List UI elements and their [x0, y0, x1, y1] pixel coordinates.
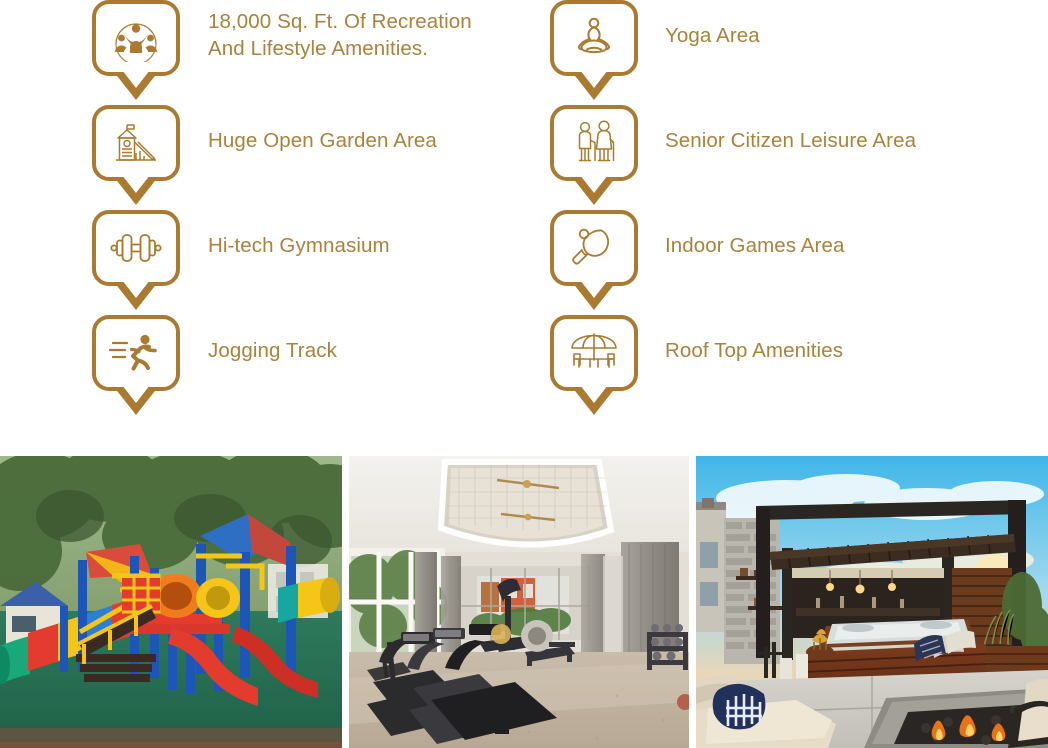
amenities-brochure-page: 18,000 Sq. Ft. Of Recreation And Lifesty…	[0, 0, 1048, 748]
dumbbell-icon	[92, 210, 180, 286]
playground-photo	[0, 456, 342, 748]
amenity-label: Yoga Area	[665, 22, 760, 49]
amenity-label: Indoor Games Area	[665, 232, 844, 259]
playground-slide-icon	[92, 105, 180, 181]
amenity-label: Senior Citizen Leisure Area	[665, 127, 916, 154]
amenity-label: Hi-tech Gymnasium	[208, 232, 390, 259]
amenity-item-indoor-games: Indoor Games Area	[550, 210, 1010, 310]
gallery-divider	[342, 456, 349, 748]
senior-couple-icon	[550, 105, 638, 181]
running-person-icon	[92, 315, 180, 391]
amenities-left-column: 18,000 Sq. Ft. Of Recreation And Lifesty…	[92, 0, 552, 420]
table-tennis-paddle-icon	[550, 210, 638, 286]
amenity-label: Huge Open Garden Area	[208, 127, 437, 154]
yoga-meditation-icon	[550, 0, 638, 76]
amenity-item-garden: Huge Open Garden Area	[92, 105, 552, 205]
amenities-right-column: Yoga Area	[550, 0, 1010, 420]
amenity-label: Roof Top Amenities	[665, 337, 843, 364]
patio-umbrella-icon	[550, 315, 638, 391]
amenity-item-senior-citizen: Senior Citizen Leisure Area	[550, 105, 1010, 205]
rooftop-photo	[696, 456, 1048, 748]
amenity-item-recreation: 18,000 Sq. Ft. Of Recreation And Lifesty…	[92, 0, 552, 100]
gallery-divider	[689, 456, 696, 748]
amenity-item-gymnasium: Hi-tech Gymnasium	[92, 210, 552, 310]
amenities-section: 18,000 Sq. Ft. Of Recreation And Lifesty…	[0, 0, 1048, 456]
amenity-label: Jogging Track	[208, 337, 337, 364]
amenity-label: 18,000 Sq. Ft. Of Recreation And Lifesty…	[208, 8, 472, 62]
amenity-item-yoga: Yoga Area	[550, 0, 1010, 100]
group-people-icon	[92, 0, 180, 76]
amenity-item-roof-top: Roof Top Amenities	[550, 315, 1010, 415]
gymnasium-photo	[349, 456, 689, 748]
amenity-item-jogging: Jogging Track	[92, 315, 552, 415]
photo-gallery	[0, 456, 1048, 748]
